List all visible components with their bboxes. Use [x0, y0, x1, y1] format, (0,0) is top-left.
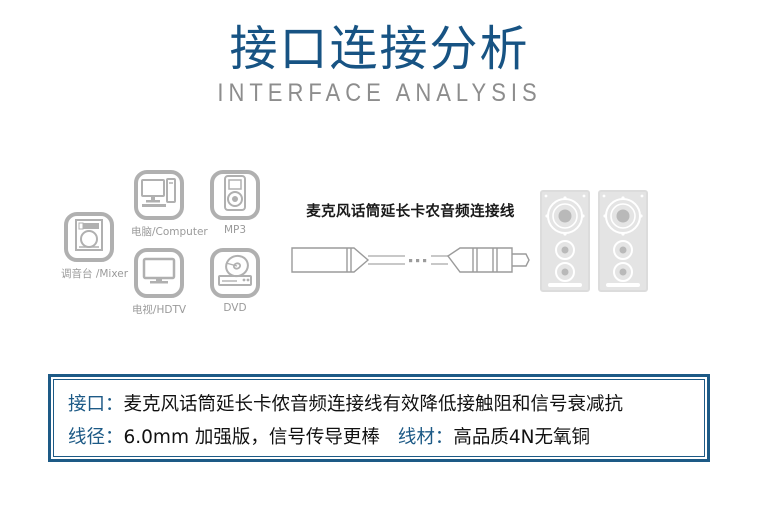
- device-dvd-label: DVD: [207, 302, 263, 314]
- mp3-tile: [210, 170, 260, 220]
- cable-illustration: [288, 239, 533, 286]
- cable-body-right: [431, 256, 448, 264]
- spec-line-material-value: 高品质4N无氧铜: [453, 427, 590, 448]
- spec-line-interface: 接口：麦克风话筒延长卡侬音频连接线有效降低接触阻和信号衰减抗: [68, 388, 690, 421]
- cable-block: 麦克风话筒延长卡农音频连接线: [288, 200, 533, 286]
- specification-box-inner: 接口：麦克风话筒延长卡侬音频连接线有效降低接触阻和信号衰减抗 线径：6.0mm …: [53, 379, 705, 457]
- hdtv-tile: [134, 248, 184, 298]
- device-mp3: MP3: [207, 170, 263, 236]
- xlr-male-connector-icon: [292, 248, 368, 272]
- page-title: 接口连接分析: [0, 0, 759, 74]
- mixer-icon: [74, 218, 104, 257]
- desktop-computer-icon: [141, 177, 177, 214]
- page-subtitle: INTERFACE ANALYSIS: [0, 79, 759, 108]
- computer-tile: [134, 170, 184, 220]
- cable-break-dots: [409, 259, 426, 262]
- trs-plug-connector-icon: [448, 248, 529, 272]
- mixer-tile: [64, 212, 114, 262]
- spec-line-gauge-key: 线径：: [68, 427, 124, 448]
- device-computer: 电脑/Computer: [131, 170, 187, 239]
- device-computer-label: 电脑/Computer: [131, 224, 187, 239]
- page-header: 接口连接分析 INTERFACE ANALYSIS: [0, 0, 759, 106]
- source-device-group: 调音台 /Mixer 电脑/Computer: [55, 170, 285, 330]
- spec-line-interface-value: 麦克风话筒延长卡侬音频连接线有效降低接触阻和信号衰减抗: [124, 394, 624, 415]
- device-dvd: DVD: [207, 248, 263, 314]
- spec-line-gauge-value: 6.0mm 加强版，信号传导更棒: [124, 427, 380, 448]
- speaker-pair: [538, 188, 650, 299]
- television-icon: [142, 257, 176, 290]
- interface-diagram: 调音台 /Mixer 电脑/Computer: [0, 160, 759, 340]
- device-mp3-label: MP3: [207, 224, 263, 236]
- device-hdtv-label: 电视/HDTV: [131, 302, 187, 317]
- specification-box: 接口：麦克风话筒延长卡侬音频连接线有效降低接触阻和信号衰减抗 线径：6.0mm …: [48, 374, 710, 462]
- spec-line-interface-key: 接口：: [68, 394, 124, 415]
- spec-line-gauge: 线径：6.0mm 加强版，信号传导更棒线材：高品质4N无氧铜: [68, 421, 690, 454]
- speaker-pair-icon: [538, 281, 650, 298]
- device-mixer-label: 调音台 /Mixer: [61, 266, 117, 281]
- device-mixer: 调音台 /Mixer: [61, 212, 117, 281]
- spec-line-material-key: 线材：: [398, 427, 454, 448]
- dvd-player-icon: [217, 254, 253, 293]
- device-hdtv: 电视/HDTV: [131, 248, 187, 317]
- dvd-tile: [210, 248, 260, 298]
- mp3-player-icon: [223, 175, 247, 216]
- cable-product-label: 麦克风话筒延长卡农音频连接线: [288, 200, 533, 221]
- cable-body-left: [368, 256, 405, 264]
